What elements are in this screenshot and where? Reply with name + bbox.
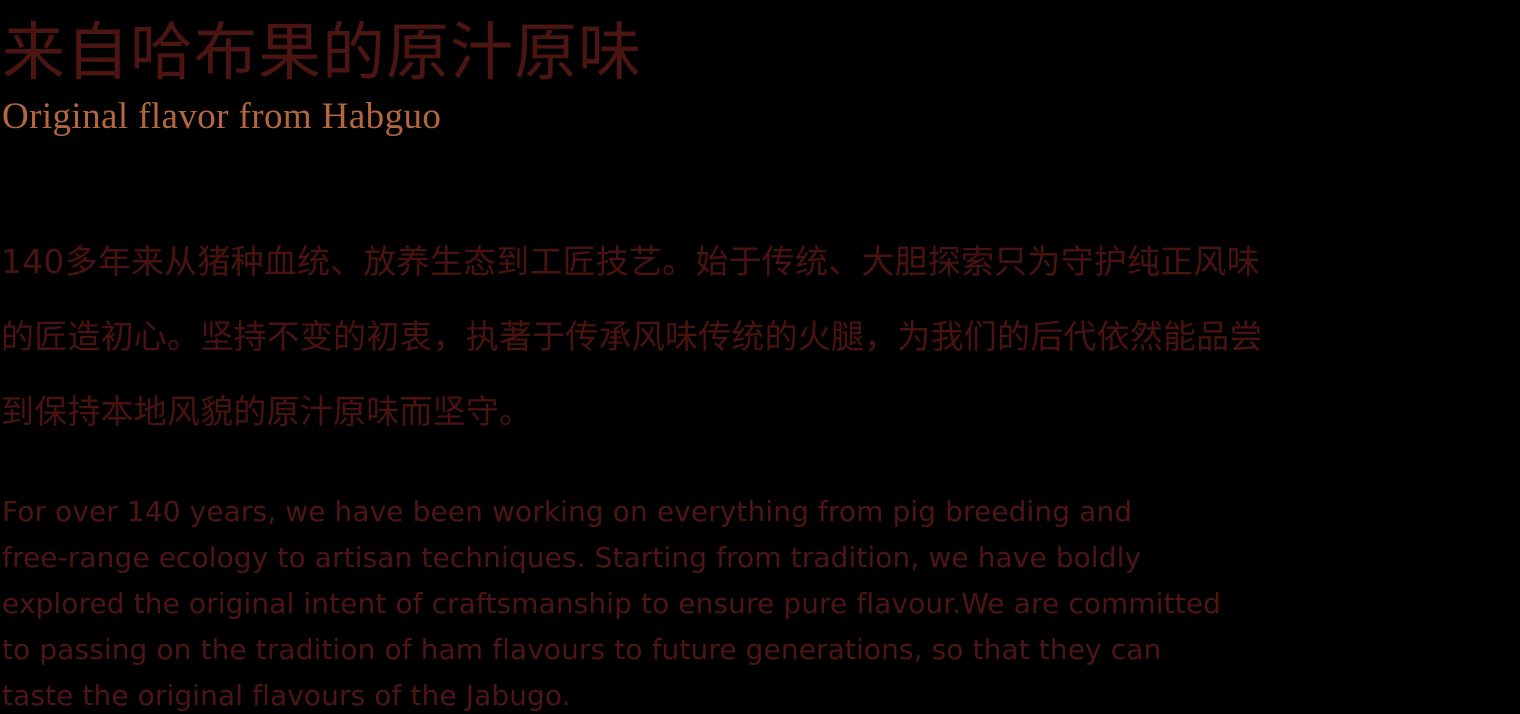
body-en-line: to passing on the tradition of ham flavo… [2,627,1520,673]
body-en-line: free-range ecology to artisan techniques… [2,535,1520,581]
page-title: 来自哈布果的原汁原味 [0,14,1520,92]
body-paragraph-chinese: 140多年来从猪种血统、放养生态到工匠技艺。始于传统、大胆探索只为守护纯正风味 … [0,224,1520,449]
body-en-line: For over 140 years, we have been working… [2,489,1520,535]
body-cn-line: 到保持本地风貌的原汁原味而坚守。 [1,374,1520,449]
body-en-line: explored the original intent of craftsma… [2,581,1520,627]
body-cn-line: 140多年来从猪种血统、放养生态到工匠技艺。始于传统、大胆探索只为守护纯正风味 [1,224,1520,299]
brand-story-section: 来自哈布果的原汁原味 Original flavor from Habguo 1… [0,0,1520,714]
headline-block: 来自哈布果的原汁原味 Original flavor from Habguo [0,14,1520,139]
body-en-line: taste the original flavours of the Jabug… [2,673,1520,714]
body-cn-line: 的匠造初心。坚持不变的初衷，执著于传承风味传统的火腿，为我们的后代依然能品尝 [1,299,1520,374]
body-paragraph-english: For over 140 years, we have been working… [0,489,1520,714]
page-subtitle: Original flavor from Habguo [0,92,1520,139]
